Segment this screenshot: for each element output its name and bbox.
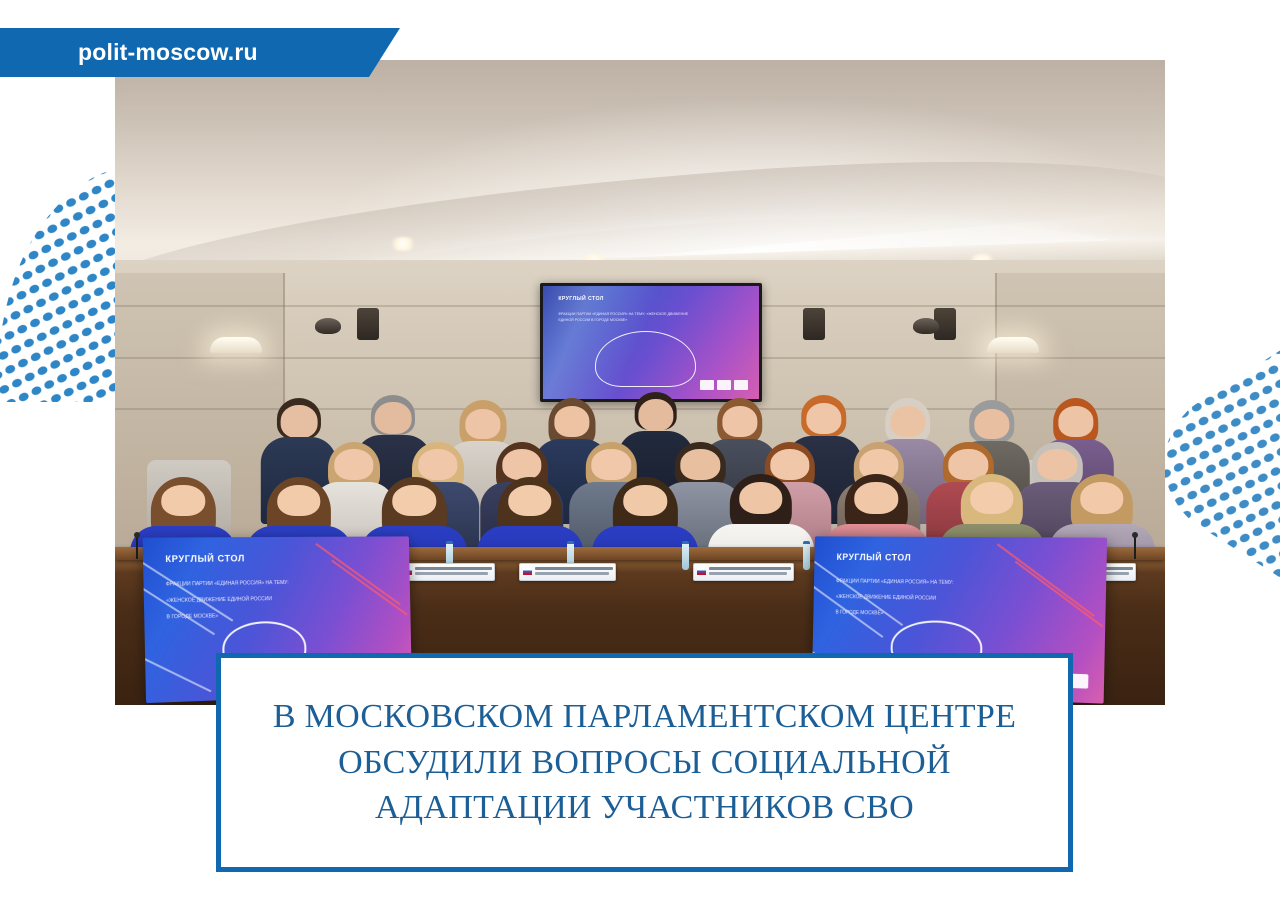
wall-speaker: [803, 308, 825, 340]
halftone-dots-right: [1160, 348, 1280, 580]
flag-icon: [523, 568, 532, 575]
event-photo: КРУГЛЫЙ СТОЛ ФРАКЦИИ ПАРТИИ «ЕДИНАЯ РОСС…: [115, 60, 1165, 705]
poster-canvas: КРУГЛЫЙ СТОЛ ФРАКЦИИ ПАРТИИ «ЕДИНАЯ РОСС…: [0, 0, 1280, 914]
headline-line-3: АДАПТАЦИИ УЧАСТНИКОВ СВО: [273, 785, 1016, 831]
headline-text: В МОСКОВСКОМ ПАРЛАМЕНТСКОМ ЦЕНТРЕ ОБСУДИ…: [247, 694, 1042, 831]
nameplate: [693, 563, 795, 581]
rollup-line1: ФРАКЦИИ ПАРТИИ «ЕДИНАЯ РОССИЯ» НА ТЕМУ:: [165, 579, 332, 589]
security-camera-icon: [913, 318, 939, 334]
nameplate: [399, 563, 496, 581]
site-url-label: polit-moscow.ru: [78, 39, 258, 66]
rollup-line2: «ЖЕНСКОЕ ДВИЖЕНИЕ ЕДИНОЙ РОССИИ: [166, 594, 333, 605]
security-camera-icon: [315, 318, 341, 334]
rollup-line3: В ГОРОДЕ МОСКВЕ»: [835, 609, 1014, 621]
screen-subtitle: ФРАКЦИИ ПАРТИИ «ЕДИНАЯ РОССИЯ» НА ТЕМУ: …: [558, 312, 691, 323]
screen-title: КРУГЛЫЙ СТОЛ: [558, 296, 604, 302]
halftone-dots-left: [0, 162, 122, 402]
nameplate: [519, 563, 616, 581]
wall-sconce: [987, 337, 1039, 353]
microphone: [136, 537, 138, 559]
united-russia-bear-icon: [595, 331, 696, 387]
headline-line-2: ОБСУДИЛИ ВОПРОСЫ СОЦИАЛЬНОЙ: [273, 740, 1016, 786]
headline-caption-box: В МОСКОВСКОМ ПАРЛАМЕНТСКОМ ЦЕНТРЕ ОБСУДИ…: [216, 653, 1073, 872]
headline-line-1: В МОСКОВСКОМ ПАРЛАМЕНТСКОМ ЦЕНТРЕ: [273, 694, 1016, 740]
water-bottle: [803, 541, 810, 570]
site-url-banner: polit-moscow.ru: [0, 28, 400, 77]
water-bottle: [682, 541, 689, 570]
rollup-line2: «ЖЕНСКОЕ ДВИЖЕНИЕ ЕДИНОЙ РОССИИ: [836, 593, 1015, 604]
rollup-title: КРУГЛЫЙ СТОЛ: [837, 552, 912, 563]
wall-speaker: [357, 308, 379, 340]
wall-sconce: [210, 337, 262, 353]
rollup-line3: В ГОРОДЕ МОСКВЕ»: [166, 610, 333, 621]
microphone: [1134, 537, 1136, 559]
flag-icon: [697, 568, 706, 575]
rollup-title: КРУГЛЫЙ СТОЛ: [165, 554, 245, 565]
rollup-line1: ФРАКЦИИ ПАРТИИ «ЕДИНАЯ РОССИЯ» НА ТЕМУ:: [836, 578, 1015, 588]
